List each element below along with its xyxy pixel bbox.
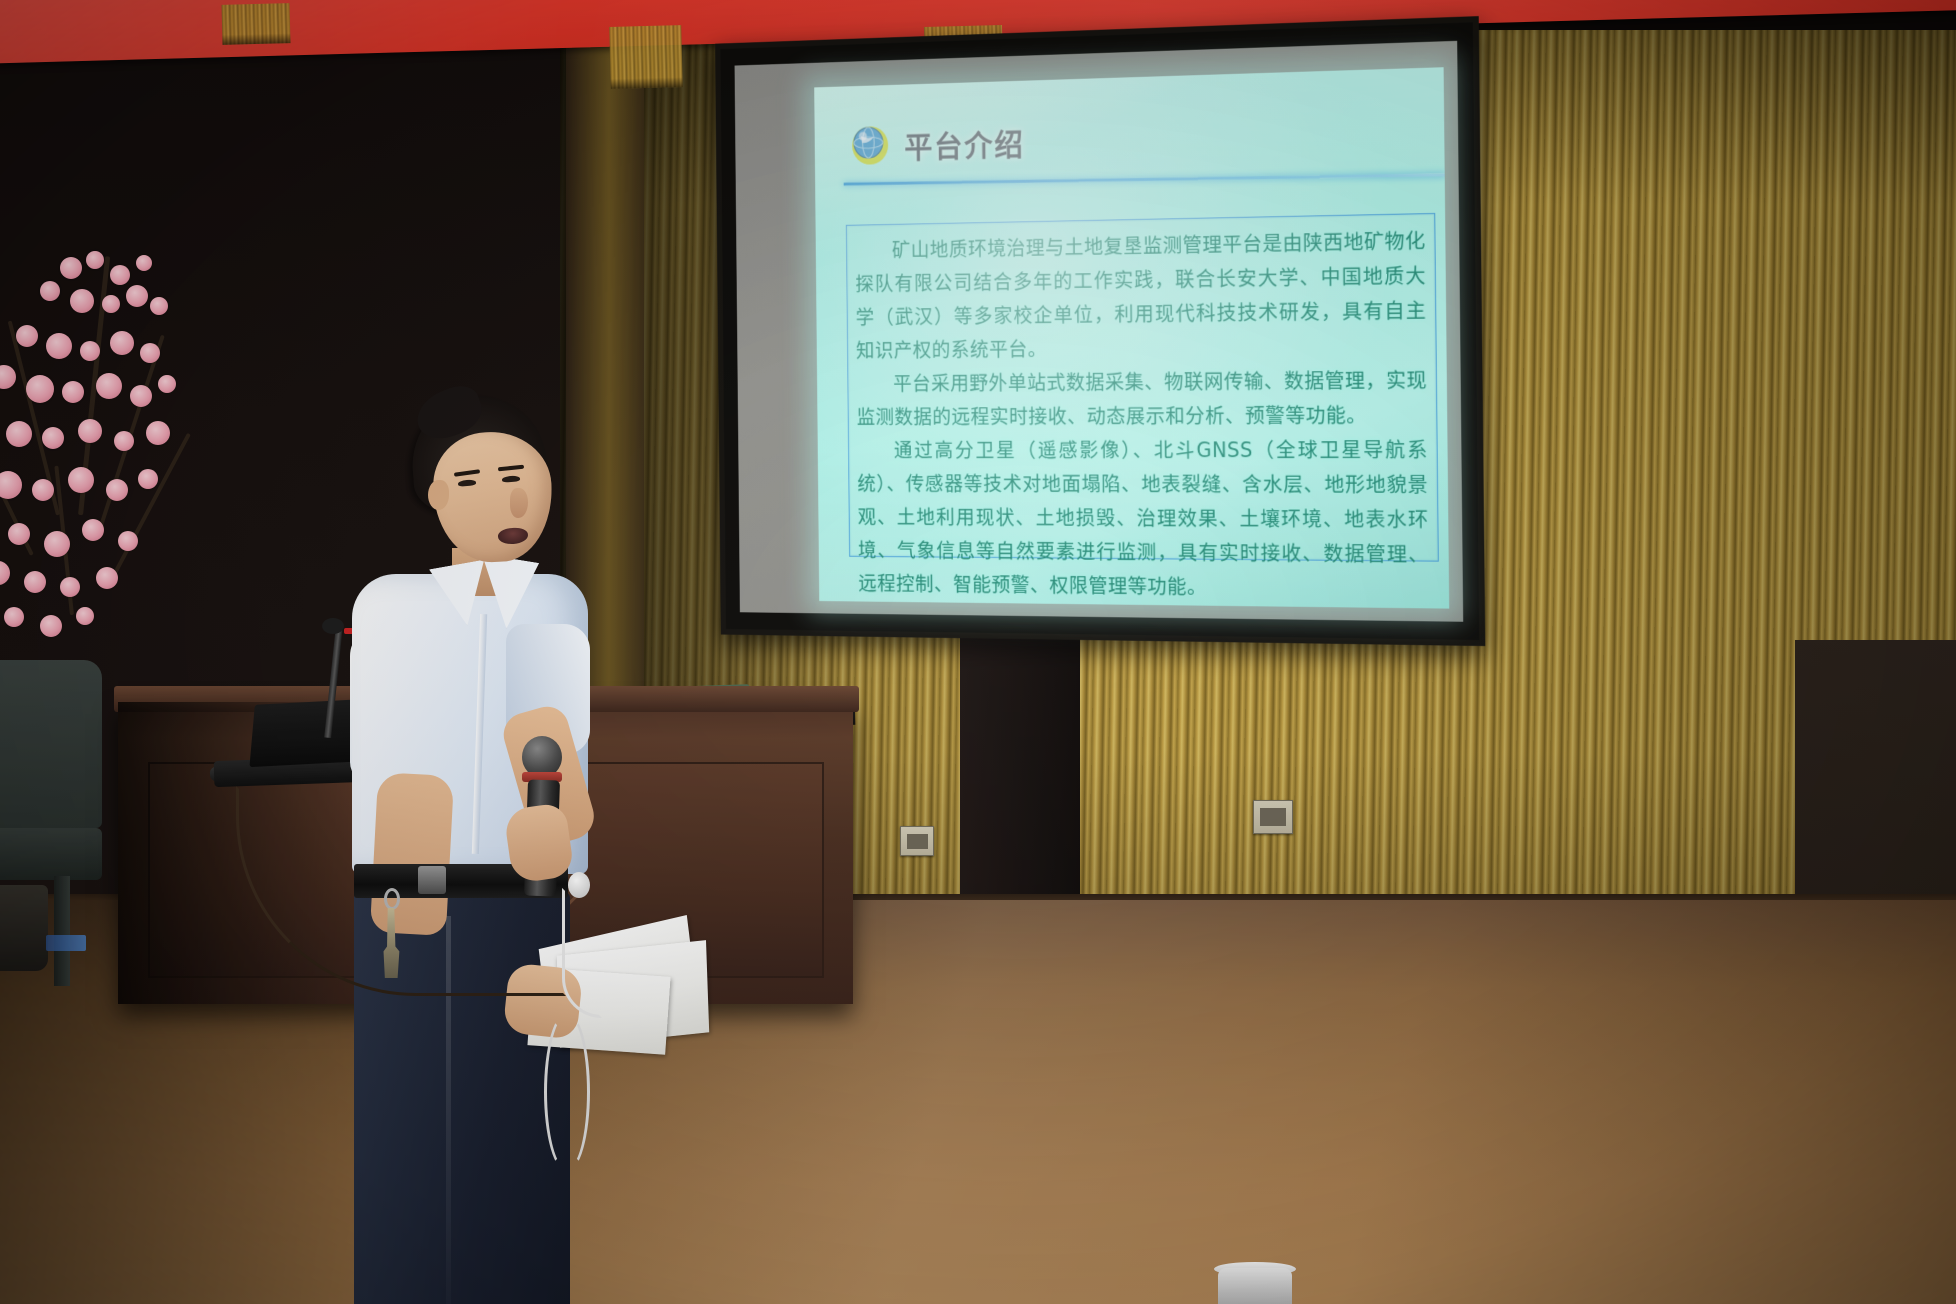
screen-fabric: 平台介绍 矿山地质环境治理与土地复垦监测管理平台是由陕西地矿物化探队有限公司结合…: [735, 41, 1464, 622]
slide-paragraph: 平台采用野外单站式数据采集、物联网传输、数据管理，实现监测数据的远程实时接收、动…: [856, 363, 1427, 434]
flower-vase: [0, 885, 48, 971]
chair-blue-marking: [46, 935, 86, 951]
microphone-cable: [562, 888, 602, 1018]
paper-cup-on-floor: [1218, 1268, 1292, 1304]
chair-leg: [54, 876, 70, 986]
slide-paragraph: 通过高分卫星（遥感影像）、北斗GNSS（全球卫星导航系统）、传感器等技术对地面塌…: [857, 433, 1430, 607]
projection-screen: 平台介绍 矿山地质环境治理与土地复垦监测管理平台是由陕西地矿物化探队有限公司结合…: [715, 16, 1485, 646]
presentation-photo: 平台介绍 矿山地质环境治理与土地复垦监测管理平台是由陕西地矿物化探队有限公司结合…: [0, 0, 1956, 1304]
ear: [428, 480, 449, 510]
slide-paragraph: 矿山地质环境治理与土地复垦监测管理平台是由陕西地矿物化探队有限公司结合多年的工作…: [855, 224, 1427, 368]
slide-title: 平台介绍: [904, 120, 1025, 166]
front-row-chair: [0, 660, 102, 828]
microphone-cable: [544, 1012, 590, 1172]
projected-slide: 平台介绍 矿山地质环境治理与土地复垦监测管理平台是由陕西地矿物化探队有限公司结合…: [814, 67, 1449, 608]
globe-icon: [850, 124, 890, 167]
gold-curtain-tassel: [221, 3, 290, 45]
slide-header: 平台介绍: [814, 93, 1444, 182]
gold-curtain-tassel: [609, 25, 683, 89]
chair-seat: [0, 828, 102, 880]
wall-outlet: [1253, 800, 1293, 834]
screen-border: 平台介绍 矿山地质环境治理与土地复垦监测管理平台是由陕西地矿物化探队有限公司结合…: [720, 22, 1479, 640]
cherry-blossom-arrangement: [0, 255, 210, 675]
wall-outlet: [900, 826, 934, 856]
slide-body-textbox: 矿山地质环境治理与土地复垦监测管理平台是由陕西地矿物化探队有限公司结合多年的工作…: [846, 213, 1439, 562]
